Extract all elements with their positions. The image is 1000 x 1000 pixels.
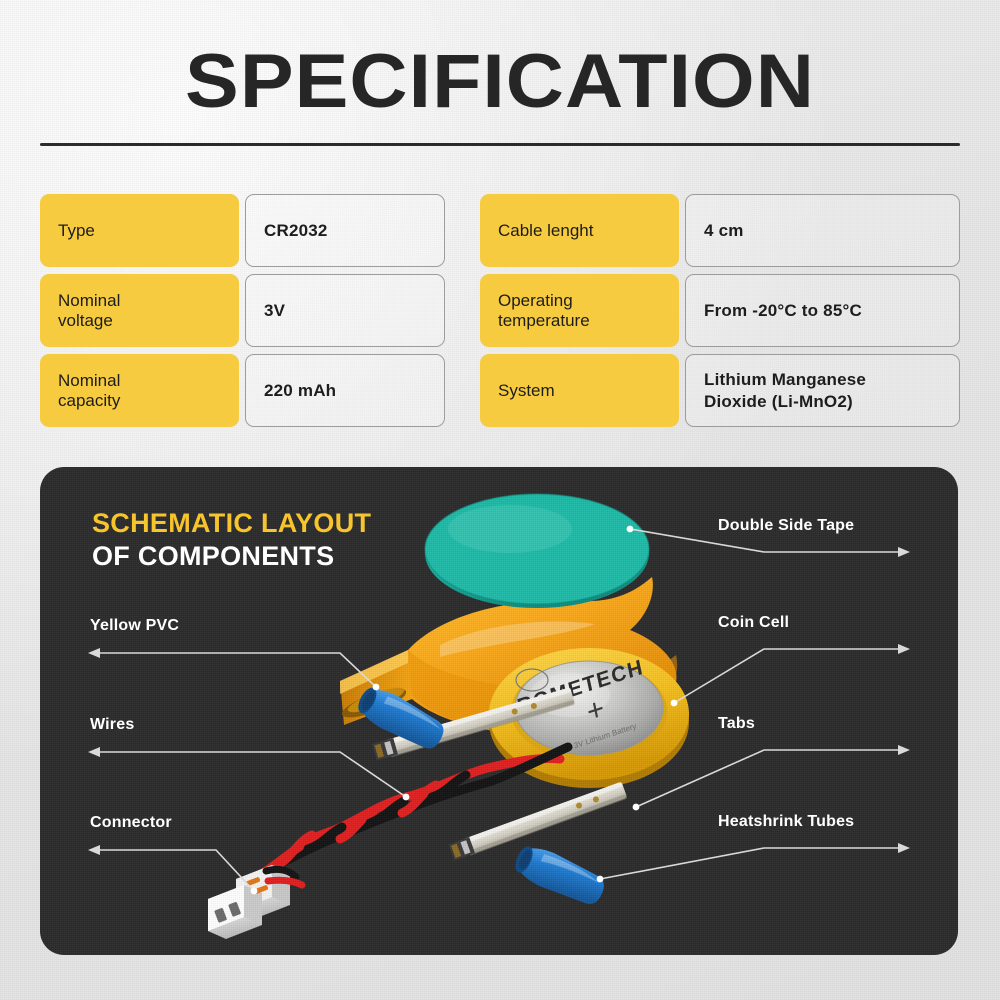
- spec-key-operating-temperature: Operating temperature: [480, 274, 679, 347]
- leader-line-tabs: [636, 750, 902, 807]
- spec-key-cable-lenght: Cable lenght: [480, 194, 679, 267]
- leader-line-heatshrink-tubes: [600, 848, 902, 879]
- spec-key-system: System: [480, 354, 679, 427]
- spec-key-nominal-capacity: Nominal capacity: [40, 354, 239, 427]
- spec-key-nominal-voltage: Nominal voltage: [40, 274, 239, 347]
- spec-value-nominal-capacity: 220 mAh: [245, 354, 445, 427]
- page-title: SPECIFICATION: [0, 44, 1000, 120]
- callout-label-yellow-pvc: Yellow PVC: [90, 617, 179, 635]
- leader-line-yellow-pvc: [96, 653, 376, 687]
- spec-column-gap: [445, 194, 480, 267]
- leader-anchor-dots: [251, 526, 678, 895]
- callout-label-wires: Wires: [90, 716, 134, 734]
- spec-value-operating-temperature: From -20°C to 85°C: [685, 274, 960, 347]
- callout-label-tabs: Tabs: [718, 715, 755, 733]
- leader-line-connector: [96, 850, 254, 891]
- callout-leader-lines: [40, 467, 958, 955]
- leader-line-coin-cell: [674, 649, 902, 703]
- spec-value-system: Lithium Manganese Dioxide (Li-MnO2): [685, 354, 960, 427]
- specification-table: Type CR2032 Cable lenght 4 cm Nominal vo…: [40, 194, 960, 427]
- leader-arrowheads-right: [898, 547, 910, 853]
- callout-label-coin-cell: Coin Cell: [718, 614, 789, 632]
- spec-value-type: CR2032: [245, 194, 445, 267]
- callout-label-connector: Connector: [90, 814, 172, 832]
- spec-key-type: Type: [40, 194, 239, 267]
- callout-label-heatshrink-tubes: Heatshrink Tubes: [718, 813, 854, 831]
- spec-value-cable-lenght: 4 cm: [685, 194, 960, 267]
- callout-label-double-side-tape: Double Side Tape: [718, 517, 854, 535]
- title-divider-rule: [40, 143, 960, 146]
- leader-line-wires: [96, 752, 406, 797]
- spec-value-nominal-voltage: 3V: [245, 274, 445, 347]
- schematic-layout-panel: ROMETECH + 3V Lithium Battery: [40, 467, 958, 955]
